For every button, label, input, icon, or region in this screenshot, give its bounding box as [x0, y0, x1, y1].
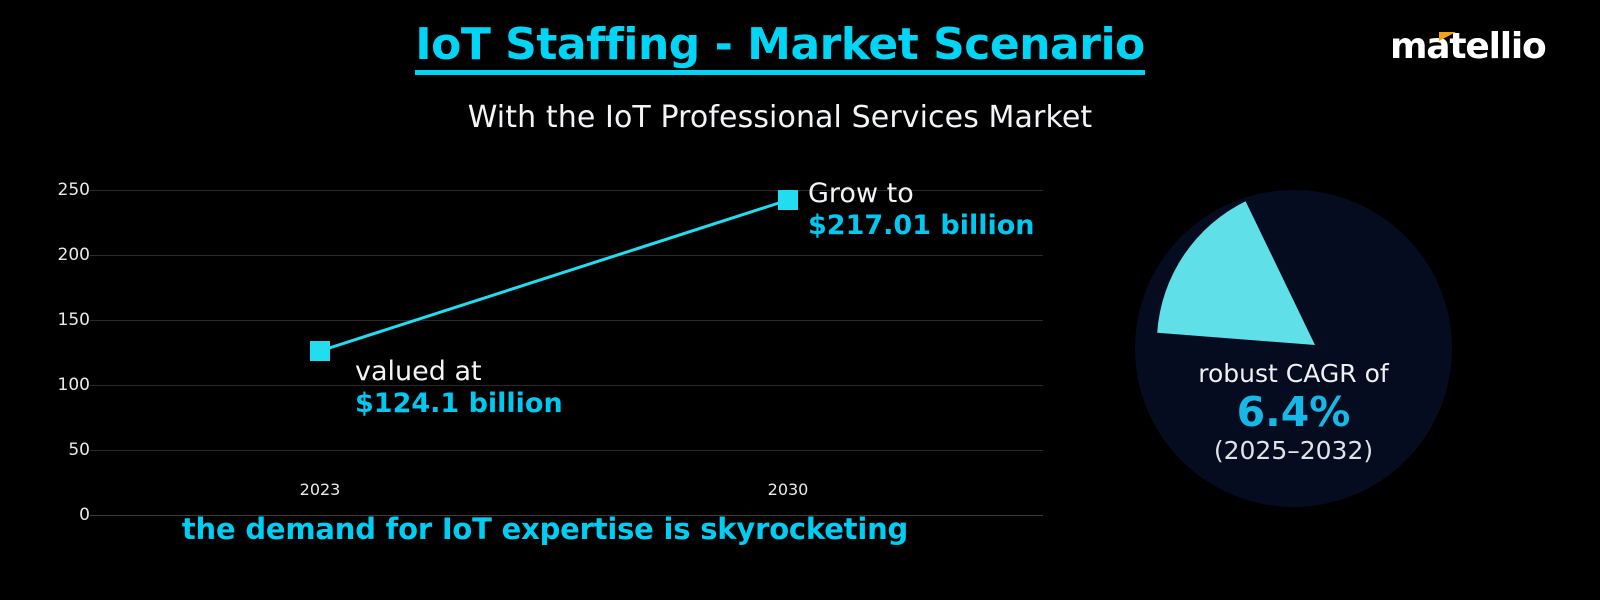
x-tick-label-2030: 2030 [768, 480, 809, 499]
x-tick-label-2023: 2023 [300, 480, 341, 499]
data-point-2023[interactable] [310, 341, 330, 361]
data-point-2030[interactable] [778, 190, 798, 210]
pie-svg [1135, 190, 1452, 507]
chart-caption: the demand for IoT expertise is skyrocke… [0, 512, 1090, 546]
page-title: IoT Staffing - Market Scenario [0, 22, 1560, 75]
matellio-logo: matellio [1390, 26, 1540, 72]
logo-wordmark: matellio [1390, 26, 1546, 67]
page-subtitle: With the IoT Professional Services Marke… [0, 100, 1560, 135]
annotation-2023-label: valued at [355, 356, 563, 388]
line-chart: 250 200 150 100 50 0 2023 2030 valued at… [0, 160, 1090, 520]
orange-triangle-icon [1439, 32, 1456, 41]
annotation-2023: valued at $124.1 billion [355, 356, 563, 420]
trend-line [320, 200, 788, 351]
annotation-2023-value: $124.1 billion [355, 388, 563, 420]
pie-slice-remainder[interactable] [1135, 190, 1452, 507]
annotation-2030: Grow to $217.01 billion [808, 178, 1035, 242]
page-title-text: IoT Staffing - Market Scenario [415, 22, 1145, 75]
annotation-2030-label: Grow to [808, 178, 1035, 210]
annotation-2030-value: $217.01 billion [808, 210, 1035, 242]
pie-chart [1135, 190, 1452, 507]
